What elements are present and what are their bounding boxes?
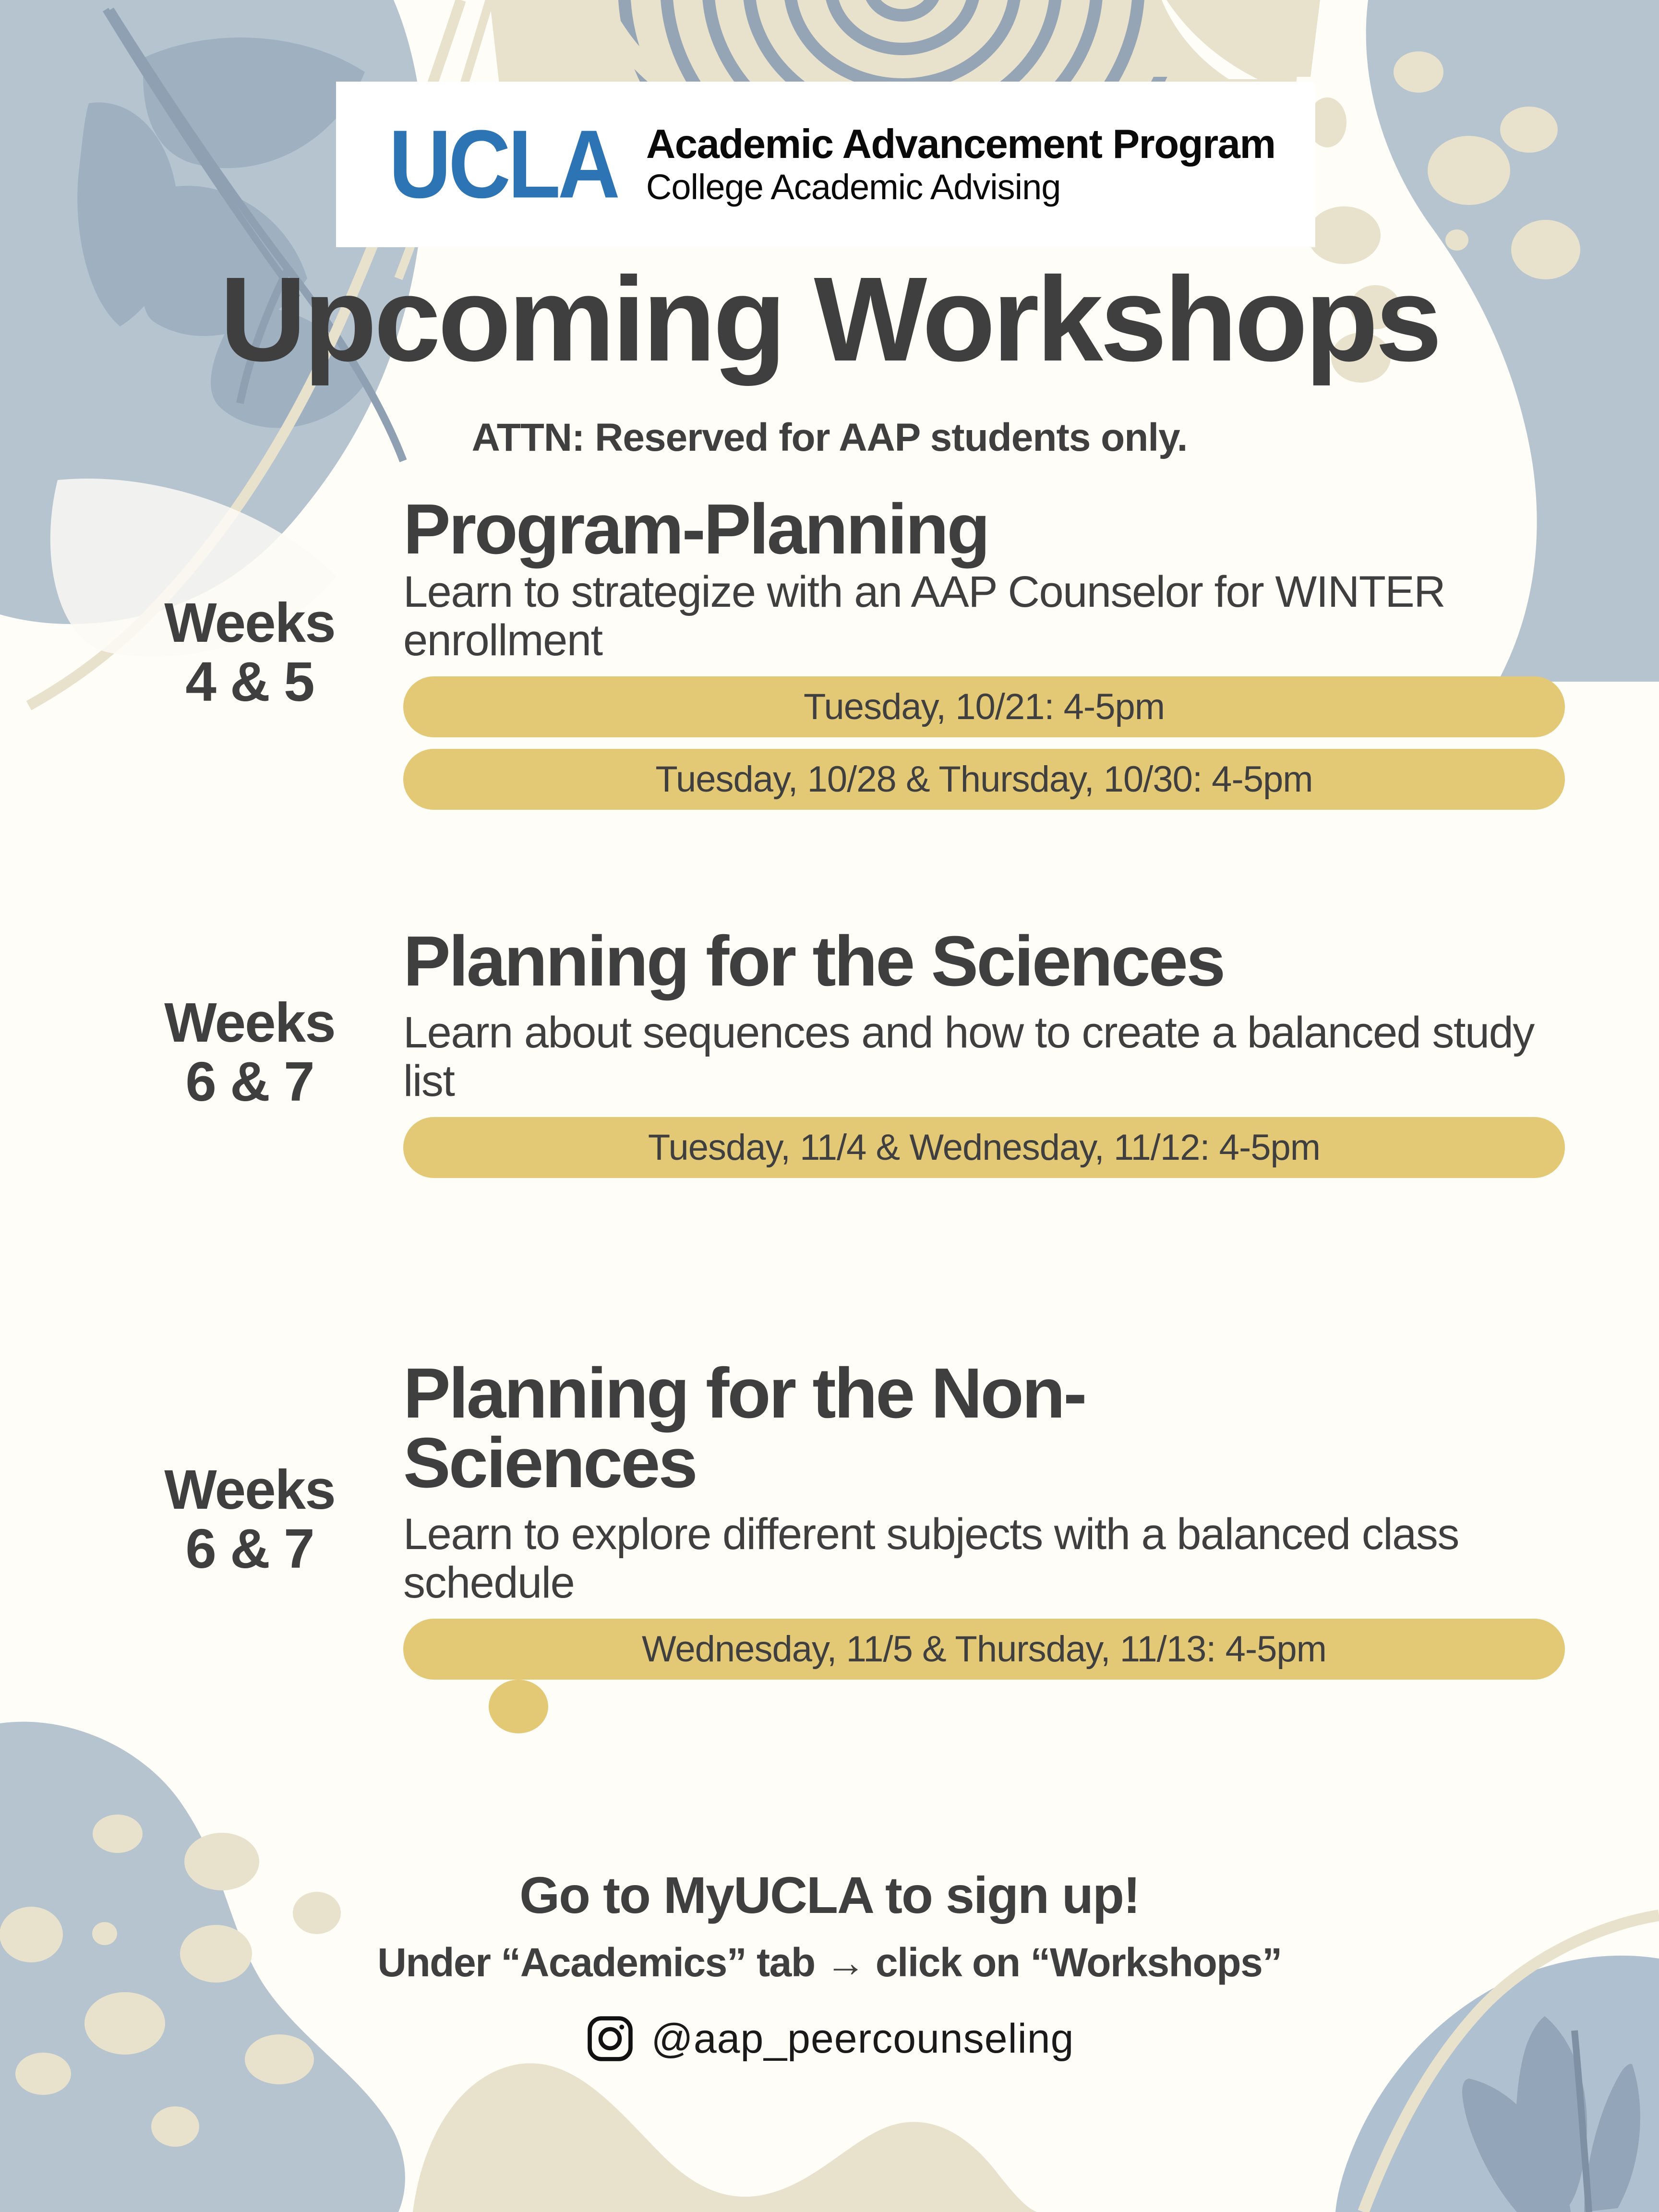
- workshop-title-2: Planning for the Sciences: [403, 926, 1229, 996]
- instagram-handle[interactable]: @aap_peercounseling: [651, 2015, 1074, 2063]
- session-pill-2-1[interactable]: Tuesday, 11/4 & Wednesday, 11/12: 4-5pm: [403, 1117, 1565, 1178]
- session-pill-3-1[interactable]: Wednesday, 11/5 & Thursday, 11/13: 4-5pm: [403, 1619, 1565, 1680]
- session-list-2: Tuesday, 11/4 & Wednesday, 11/12: 4-5pm: [403, 1117, 1565, 1178]
- session-pill-1-2[interactable]: Tuesday, 10/28 & Thursday, 10/30: 4-5pm: [403, 749, 1565, 810]
- workshop-section-1: Weeks 4 & 5 Program-Planning Learn to st…: [96, 494, 1565, 810]
- instagram-icon[interactable]: [585, 2014, 635, 2064]
- weeks-badge-3: Weeks 6 & 7: [96, 1460, 403, 1578]
- weeks-value-2: 6 & 7: [96, 1052, 403, 1111]
- session-list-1: Tuesday, 10/21: 4-5pm Tuesday, 10/28 & T…: [403, 676, 1565, 810]
- workshop-poster: UCLA Academic Advancement Program Colleg…: [0, 0, 1659, 2212]
- attention-note: ATTN: Reserved for AAP students only.: [0, 415, 1659, 460]
- session-pill-1-1[interactable]: Tuesday, 10/21: 4-5pm: [403, 676, 1565, 737]
- weeks-label-3: Weeks: [96, 1460, 403, 1519]
- workshop-section-2: Weeks 6 & 7 Planning for the Sciences Le…: [96, 926, 1565, 1178]
- weeks-value-1: 4 & 5: [96, 652, 403, 711]
- weeks-label-2: Weeks: [96, 993, 403, 1052]
- session-list-3: Wednesday, 11/5 & Thursday, 11/13: 4-5pm: [403, 1619, 1565, 1680]
- department-name: College Academic Advising: [646, 168, 1275, 207]
- workshop-section-3: Weeks 6 & 7 Planning for the Non- Scienc…: [96, 1358, 1565, 1680]
- instagram-row[interactable]: @aap_peercounseling: [0, 2014, 1659, 2064]
- workshop-body-1: Program-Planning Learn to strategize wit…: [403, 494, 1565, 810]
- signup-instructions: Under “Academics” tab → click on “Worksh…: [0, 1939, 1659, 1986]
- weeks-badge-1: Weeks 4 & 5: [96, 593, 403, 711]
- workshop-title-1: Program-Planning: [403, 494, 1565, 564]
- program-identity: Academic Advancement Program College Aca…: [646, 121, 1275, 207]
- program-name: Academic Advancement Program: [646, 121, 1275, 167]
- weeks-value-3: 6 & 7: [96, 1519, 403, 1578]
- workshop-body-2: Planning for the Sciences Learn about se…: [403, 926, 1565, 1178]
- workshop-title-3: Planning for the Non- Sciences: [403, 1358, 1248, 1498]
- workshop-description-1: Learn to strategize with an AAP Counselo…: [403, 568, 1565, 665]
- workshop-body-3: Planning for the Non- Sciences Learn to …: [403, 1358, 1565, 1680]
- workshop-description-3: Learn to explore different subjects with…: [403, 1510, 1565, 1607]
- weeks-label-1: Weeks: [96, 593, 403, 652]
- ucla-logo-bar: UCLA Academic Advancement Program Colleg…: [336, 82, 1315, 247]
- signup-cta: Go to MyUCLA to sign up!: [0, 1865, 1659, 1925]
- weeks-badge-2: Weeks 6 & 7: [96, 993, 403, 1111]
- page-title: Upcoming Workshops: [0, 259, 1659, 379]
- workshop-description-2: Learn about sequences and how to create …: [403, 1009, 1565, 1106]
- bottom-wave-ornament: [413, 2063, 1037, 2212]
- ucla-wordmark: UCLA: [389, 116, 617, 213]
